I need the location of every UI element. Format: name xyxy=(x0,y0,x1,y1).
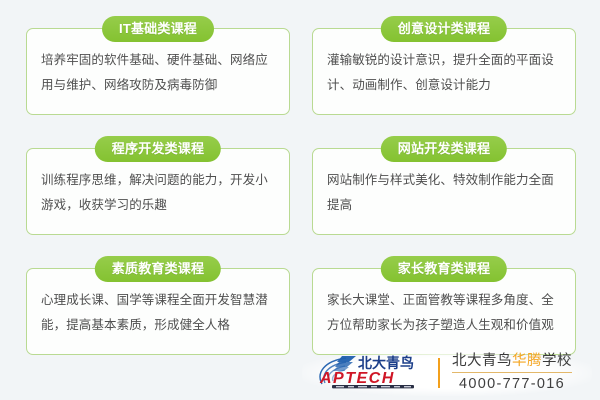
hotline-number[interactable]: 4000-777-016 xyxy=(452,375,572,394)
school-name-suffix: 学校 xyxy=(542,353,572,369)
course-card-website-development[interactable]: 网站开发类课程 网站制作与样式美化、特效制作能力全面提高 xyxy=(312,148,576,235)
course-card-program-development[interactable]: 程序开发类课程 训练程序思维，解决问题的能力，开发小游戏，收获学习的乐趣 xyxy=(26,148,290,235)
aptech-logo-icon: 北大青鸟 APTECH xyxy=(312,353,434,393)
course-card-grid: IT基础类课程 培养牢固的软件基础、硬件基础、网络应用与维护、网络攻防及病毒防御… xyxy=(26,28,576,355)
course-card-description: 网站制作与样式美化、特效制作能力全面提高 xyxy=(327,168,561,218)
course-card-badge: 素质教育类课程 xyxy=(95,256,221,282)
course-card-it-foundation[interactable]: IT基础类课程 培养牢固的软件基础、硬件基础、网络应用与维护、网络攻防及病毒防御 xyxy=(26,28,290,115)
school-name-highlight: 华腾 xyxy=(512,353,542,369)
footer-divider xyxy=(438,358,440,388)
page-root: IT基础类课程 培养牢固的软件基础、硬件基础、网络应用与维护、网络攻防及病毒防御… xyxy=(0,0,600,400)
course-card-badge: IT基础类课程 xyxy=(102,16,214,42)
course-card-description: 家长大课堂、正面管教等课程多角度、全方位帮助家长为孩子塑造人生观和价值观 xyxy=(327,288,561,338)
course-card-description: 灌输敏锐的设计意识，提升全面的平面设计、动画制作、创意设计能力 xyxy=(327,48,561,98)
course-card-badge: 创意设计类课程 xyxy=(381,16,507,42)
course-card-quality-education[interactable]: 素质教育类课程 心理成长课、国学等课程全面开发智慧潜能，提高基本素质，形成健全人… xyxy=(26,268,290,355)
course-card-creative-design[interactable]: 创意设计类课程 灌输敏锐的设计意识，提升全面的平面设计、动画制作、创意设计能力 xyxy=(312,28,576,115)
school-name-prefix: 北大青鸟 xyxy=(452,353,512,369)
aptech-logo: 北大青鸟 APTECH xyxy=(312,353,434,393)
course-card-description: 训练程序思维，解决问题的能力，开发小游戏，收获学习的乐趣 xyxy=(41,168,275,218)
footer-brand-block: 北大青鸟 APTECH 北大青鸟华腾学校 4000-7 xyxy=(302,350,592,396)
course-card-parent-education[interactable]: 家长教育类课程 家长大课堂、正面管教等课程多角度、全方位帮助家长为孩子塑造人生观… xyxy=(312,268,576,355)
school-name: 北大青鸟华腾学校 xyxy=(452,352,572,371)
aptech-logo-en-text: APTECH xyxy=(319,370,395,387)
course-card-description: 培养牢固的软件基础、硬件基础、网络应用与维护、网络攻防及病毒防御 xyxy=(41,48,275,98)
course-card-badge: 程序开发类课程 xyxy=(95,136,221,162)
course-card-badge: 网站开发类课程 xyxy=(381,136,507,162)
footer-school-info: 北大青鸟华腾学校 4000-777-016 xyxy=(452,352,572,394)
course-card-description: 心理成长课、国学等课程全面开发智慧潜能，提高基本素质，形成健全人格 xyxy=(41,288,275,338)
course-card-badge: 家长教育类课程 xyxy=(381,256,507,282)
school-name-underline xyxy=(452,372,572,373)
